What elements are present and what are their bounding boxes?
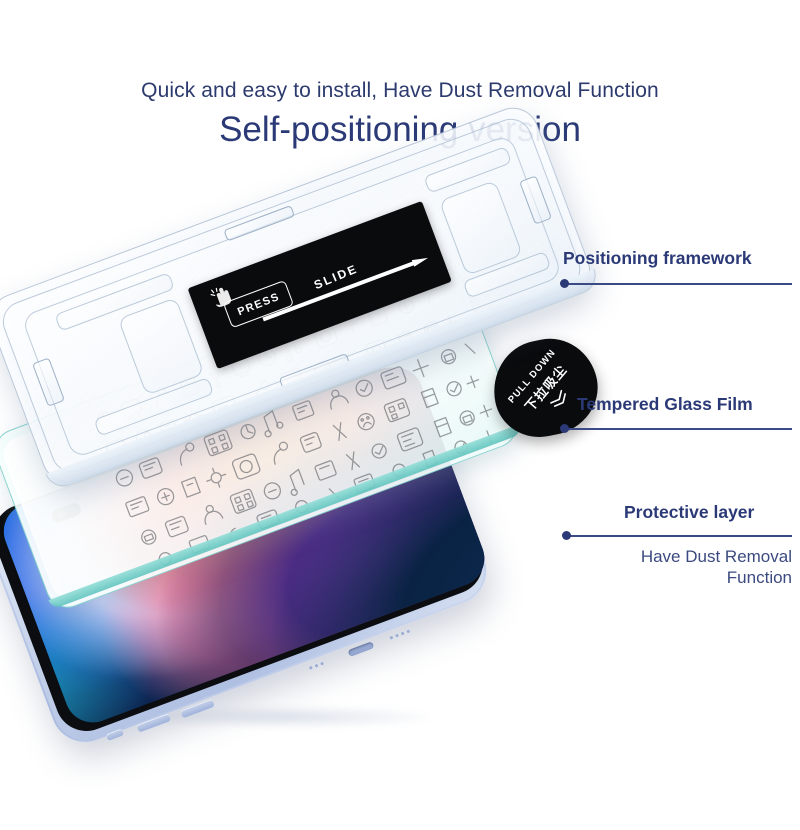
speaker-grille-left xyxy=(309,662,324,670)
protective-layer-caption: Have Dust Removal Function xyxy=(492,546,792,589)
callout-protective-layer: Protective layer xyxy=(624,502,754,522)
page-title: Self-positioning version xyxy=(0,109,800,151)
caption-line-1: Have Dust Removal xyxy=(492,546,792,567)
press-badge: PRESS xyxy=(223,280,294,328)
callout-label: Protective layer xyxy=(624,502,754,522)
product-infographic-canvas: Quick and easy to install, Have Dust Rem… xyxy=(0,0,800,800)
speaker-grille-right xyxy=(389,629,410,639)
caption-line-2: Function xyxy=(492,567,792,588)
charging-port xyxy=(348,641,375,657)
leader-line-positioning-framework xyxy=(567,283,792,285)
leader-line-protective-layer xyxy=(570,535,792,537)
callout-tempered-glass-film: Tempered Glass Film xyxy=(577,394,753,414)
leader-line-tempered-glass-film xyxy=(567,428,792,430)
headings-block: Quick and easy to install, Have Dust Rem… xyxy=(0,78,800,151)
leader-dot-positioning-framework xyxy=(560,279,569,288)
callout-label: Positioning framework xyxy=(563,248,752,268)
callout-label: Tempered Glass Film xyxy=(577,394,753,414)
leader-dot-tempered-glass-film xyxy=(560,424,569,433)
callout-positioning-framework: Positioning framework xyxy=(563,248,752,268)
leader-dot-protective-layer xyxy=(562,531,571,540)
subtitle-text: Quick and easy to install, Have Dust Rem… xyxy=(0,78,800,104)
